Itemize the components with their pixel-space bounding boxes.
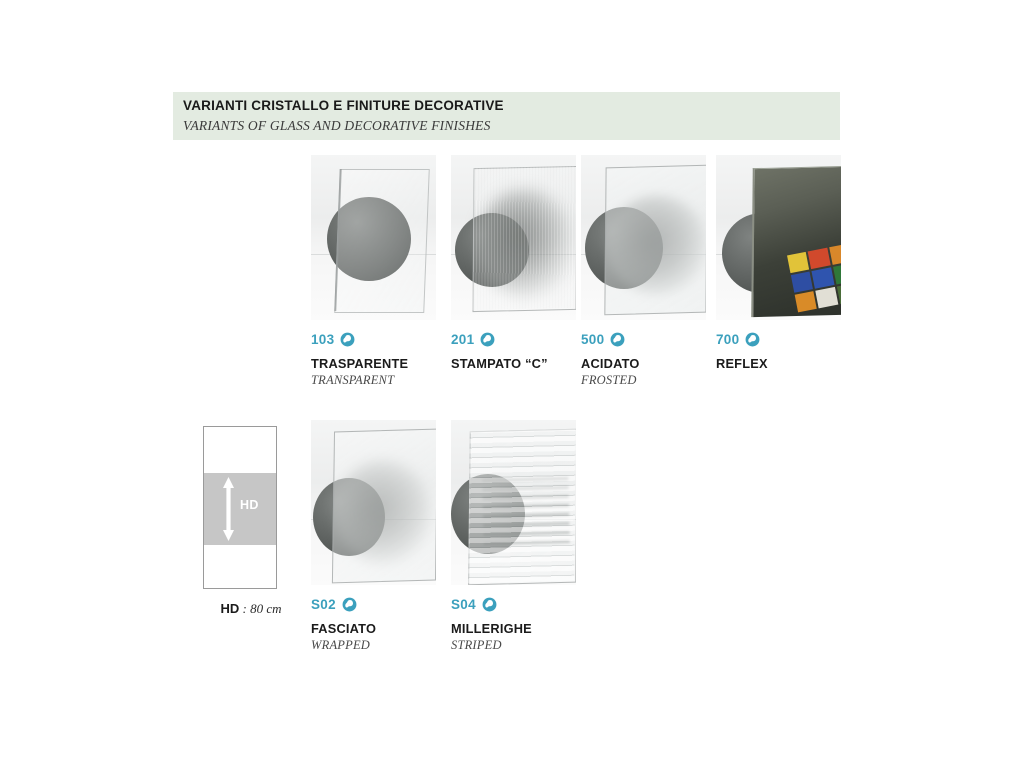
sample-name-it: TRASPARENTE [311,356,436,371]
sample-code-line: 500 [581,330,706,348]
sample-card-s02[interactable]: S02 FASCIATO WRAPPED [311,420,436,653]
sample-card-201[interactable]: 201 STAMPATO “C” [451,155,576,373]
sample-name-it: MILLERIGHE [451,621,576,636]
sample-code: 201 [451,332,474,347]
sample-photo-stampato-c [451,155,576,320]
page-subtitle: VARIANTS OF GLASS AND DECORATIVE FINISHE… [183,117,504,134]
sample-label-block: 201 STAMPATO “C” [451,330,576,371]
sample-code-line: 201 [451,330,576,348]
glass-drop-icon [610,332,625,347]
sample-name-it: REFLEX [716,356,841,371]
sample-card-500[interactable]: 500 ACIDATO FROSTED [581,155,706,388]
sample-card-700[interactable]: 700 REFLEX [716,155,841,373]
sample-name-en: WRAPPED [311,638,436,653]
glass-pane [604,165,706,316]
sample-code-line: S02 [311,595,436,613]
hd-caption-value: 80 cm [250,601,281,616]
color-swatch [829,244,841,265]
color-swatch [791,271,813,292]
glass-pane [332,429,436,584]
sample-photo-fasciato [311,420,436,585]
hd-double-arrow-icon [221,477,236,541]
hd-band-label: HD [240,498,259,512]
sample-code-line: S04 [451,595,576,613]
sample-code: 500 [581,332,604,347]
sample-card-103[interactable]: 103 TRASPARENTE TRANSPARENT [311,155,436,388]
color-swatch [833,263,841,284]
glass-drop-icon [482,597,497,612]
color-checker-grid [787,244,841,313]
sample-name-it: STAMPATO “C” [451,356,576,371]
sample-label-block: 500 ACIDATO FROSTED [581,330,706,388]
sample-label-block: 103 TRASPARENTE TRANSPARENT [311,330,436,388]
hd-caption: HD : 80 cm [196,600,306,618]
sample-photo-millerighe [451,420,576,585]
sample-code: 103 [311,332,334,347]
sample-label-block: S04 MILLERIGHE STRIPED [451,595,576,653]
sample-name-en: FROSTED [581,373,706,388]
glass-drop-icon [340,332,355,347]
sample-code: S02 [311,597,336,612]
sample-code: 700 [716,332,739,347]
glass-drop-icon [480,332,495,347]
hd-caption-key: HD [220,601,239,616]
sample-name-it: FASCIATO [311,621,436,636]
color-swatch [808,248,830,269]
sample-code: S04 [451,597,476,612]
hd-height-diagram: HD [203,426,277,589]
color-swatch [787,252,809,273]
sample-photo-reflex [716,155,841,320]
sample-code-line: 700 [716,330,841,348]
glass-pane [334,169,430,313]
glass-texture-overlay [472,166,575,310]
color-swatch [816,287,838,308]
color-swatch [812,267,834,288]
sample-photo-transparent [311,155,436,320]
sample-label-block: S02 FASCIATO WRAPPED [311,595,436,653]
sample-name-it: ACIDATO [581,356,706,371]
sample-name-en: TRANSPARENT [311,373,436,388]
section-header-band: VARIANTI CRISTALLO E FINITURE DECORATIVE… [173,92,840,140]
sample-label-block: 700 REFLEX [716,330,841,371]
sample-photo-acidato [581,155,706,320]
sample-card-s04[interactable]: S04 MILLERIGHE STRIPED [451,420,576,653]
glass-drop-icon [745,332,760,347]
sample-name-en: STRIPED [451,638,576,653]
glass-stripe-overlay [468,429,576,584]
glass-drop-icon [342,597,357,612]
hd-caption-separator: : [239,601,250,616]
color-swatch [795,291,817,312]
page-title: VARIANTI CRISTALLO E FINITURE DECORATIVE [183,98,504,114]
sample-code-line: 103 [311,330,436,348]
